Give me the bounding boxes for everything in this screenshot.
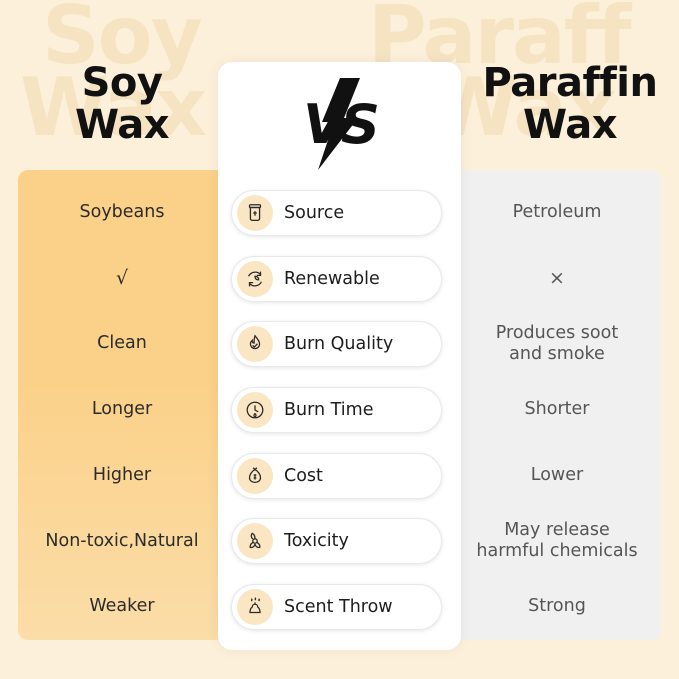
biohazard-icon	[237, 523, 273, 559]
attribute-label-toxicity: Toxicity	[284, 531, 349, 551]
paraffin-value-cost: Lower	[453, 443, 661, 509]
vs-label: VS	[303, 93, 376, 156]
pill-slot-source: Source	[218, 180, 461, 246]
paraffin-value-toxicity: May releaseharmful chemicals	[453, 509, 661, 575]
paraffin-wax-title-line2: Wax	[463, 104, 677, 146]
soy-value-renewable: √	[18, 246, 226, 312]
clock-flame-icon	[237, 392, 273, 428]
soy-wax-title-line2: Wax	[62, 104, 182, 146]
attribute-label-burn-quality: Burn Quality	[284, 334, 393, 354]
pill-slot-toxicity: Toxicity	[218, 509, 461, 575]
attribute-label-burn-time: Burn Time	[284, 400, 373, 420]
paraffin-value-renewable: ×	[453, 246, 661, 312]
attribute-label-source: Source	[284, 203, 344, 223]
paraffin-wax-title: Paraffin Wax	[463, 62, 677, 146]
attribute-pill-renewable[interactable]: Renewable	[231, 256, 442, 302]
pill-slot-renewable: Renewable	[218, 246, 461, 312]
paraffin-value-scent-throw: Strong	[453, 574, 661, 640]
soy-wax-panel: Soybeans √ Clean Longer Higher Non-toxic…	[18, 170, 226, 640]
attribute-pill-list: Source Renewable	[218, 170, 461, 640]
soy-value-burn-quality: Clean	[18, 311, 226, 377]
soy-value-toxicity: Non-toxic,Natural	[18, 509, 226, 575]
paraffin-wax-title-line1: Paraffin	[463, 62, 677, 104]
attribute-pill-cost[interactable]: Cost	[231, 453, 442, 499]
paraffin-value-source: Petroleum	[453, 180, 661, 246]
paraffin-value-burn-time: Shorter	[453, 377, 661, 443]
flame-check-icon	[237, 326, 273, 362]
pill-slot-burn-quality: Burn Quality	[218, 311, 461, 377]
comparison-center-card: VS Source	[218, 62, 461, 650]
paraffin-value-burn-quality: Produces sootand smoke	[453, 311, 661, 377]
vs-badge: VS	[218, 76, 461, 172]
money-bag-icon	[237, 458, 273, 494]
soy-value-source: Soybeans	[18, 180, 226, 246]
pill-slot-burn-time: Burn Time	[218, 377, 461, 443]
jar-icon	[237, 195, 273, 231]
attribute-pill-toxicity[interactable]: Toxicity	[231, 518, 442, 564]
paraffin-wax-panel: Petroleum × Produces sootand smoke Short…	[453, 170, 661, 640]
attribute-pill-scent-throw[interactable]: Scent Throw	[231, 584, 442, 630]
soy-wax-title: Soy Wax	[62, 62, 182, 146]
soy-wax-title-line1: Soy	[62, 62, 182, 104]
attribute-label-renewable: Renewable	[284, 269, 380, 289]
attribute-label-scent-throw: Scent Throw	[284, 597, 393, 617]
attribute-pill-burn-quality[interactable]: Burn Quality	[231, 321, 442, 367]
recycle-leaf-icon	[237, 261, 273, 297]
pill-slot-scent-throw: Scent Throw	[218, 574, 461, 640]
soy-value-cost: Higher	[18, 443, 226, 509]
soy-value-scent-throw: Weaker	[18, 574, 226, 640]
scent-diffuser-icon	[237, 589, 273, 625]
attribute-label-cost: Cost	[284, 466, 323, 486]
pill-slot-cost: Cost	[218, 443, 461, 509]
soy-value-burn-time: Longer	[18, 377, 226, 443]
attribute-pill-burn-time[interactable]: Burn Time	[231, 387, 442, 433]
attribute-pill-source[interactable]: Source	[231, 190, 442, 236]
